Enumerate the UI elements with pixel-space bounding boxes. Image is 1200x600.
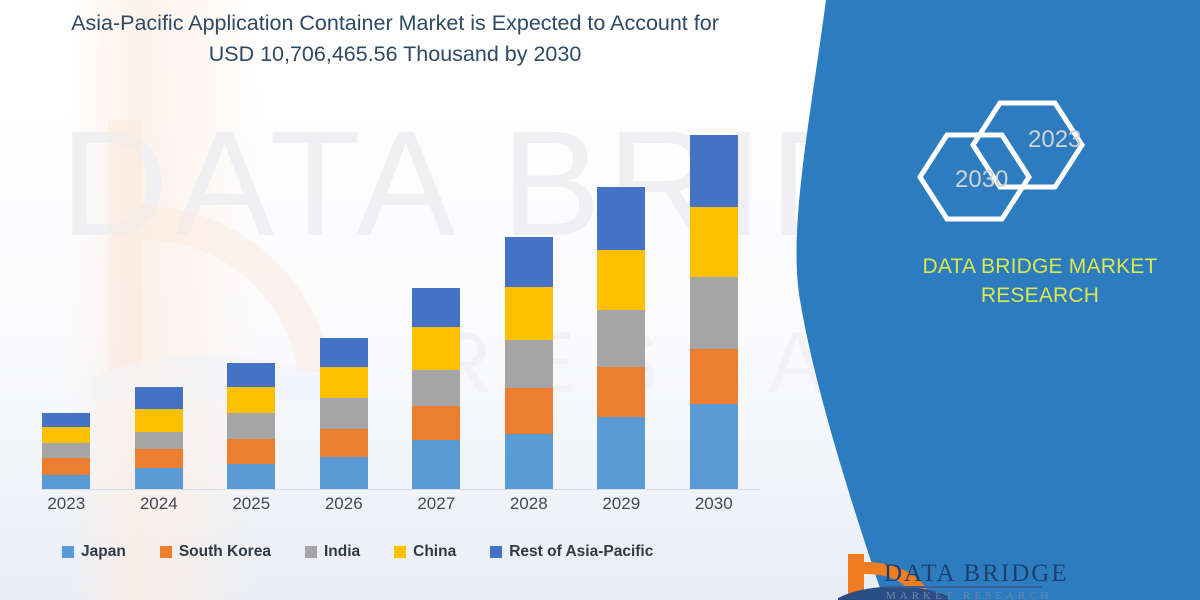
bar-segment-rest-of-asia-pacific <box>505 237 553 287</box>
legend-swatch <box>305 546 317 558</box>
bar-segment-south-korea <box>690 349 738 404</box>
x-axis-label-2029: 2029 <box>576 494 666 514</box>
bar-segment-japan <box>597 417 645 489</box>
x-axis-label-2023: 2023 <box>21 494 111 514</box>
x-axis-label-2025: 2025 <box>206 494 296 514</box>
legend-item-rest-of-asia-pacific[interactable]: Rest of Asia-Pacific <box>490 543 653 561</box>
legend-item-india[interactable]: India <box>305 543 360 561</box>
x-axis-label-2028: 2028 <box>484 494 574 514</box>
hexagon-pair-graphic <box>905 95 1125 225</box>
bar-segment-south-korea <box>227 439 275 464</box>
bar-segment-japan <box>505 434 553 489</box>
bar-segment-japan <box>42 475 90 489</box>
bar-segment-china <box>690 207 738 277</box>
bar-segment-china <box>320 367 368 398</box>
bar-column-2024 <box>114 109 204 489</box>
bar-segment-rest-of-asia-pacific <box>690 135 738 207</box>
bar-segment-rest-of-asia-pacific <box>227 363 275 387</box>
legend-label: Japan <box>81 543 126 561</box>
bar-segment-japan <box>135 468 183 489</box>
bar-segment-south-korea <box>597 367 645 417</box>
legend-label: South Korea <box>179 543 271 561</box>
bar-column-2027 <box>391 109 481 489</box>
bar-segment-rest-of-asia-pacific <box>597 187 645 250</box>
stacked-bar <box>597 187 645 489</box>
bar-segment-india <box>227 413 275 439</box>
stacked-bar <box>505 237 553 489</box>
bar-column-2028 <box>484 109 574 489</box>
bar-segment-china <box>42 427 90 443</box>
brand-panel-heading: Market, By 2030 <box>790 0 1190 3</box>
brand-name: DATA BRIDGE MARKET RESEARCH <box>880 252 1200 310</box>
brand-line-2: RESEARCH <box>981 284 1099 307</box>
hexagon-2030-label: 2030 <box>955 166 1008 194</box>
x-axis-label-2030: 2030 <box>669 494 759 514</box>
bar-segment-rest-of-asia-pacific <box>412 288 460 327</box>
bar-segment-india <box>597 310 645 367</box>
bar-segment-india <box>42 443 90 458</box>
bar-column-2030 <box>669 109 759 489</box>
hexagon-2023-label: 2023 <box>1028 126 1081 154</box>
bar-segment-south-korea <box>505 388 553 434</box>
logo-wordmark: DATA BRIDGE <box>884 560 1069 588</box>
stacked-bars <box>20 109 760 489</box>
bar-segment-japan <box>320 457 368 489</box>
bar-segment-india <box>320 398 368 429</box>
bar-column-2029 <box>576 109 666 489</box>
bar-segment-china <box>412 327 460 370</box>
legend-swatch <box>394 546 406 558</box>
stacked-bar <box>135 387 183 489</box>
legend-item-south-korea[interactable]: South Korea <box>160 543 271 561</box>
bar-segment-india <box>135 432 183 449</box>
logo-rule <box>884 586 1042 588</box>
x-axis-label-2024: 2024 <box>114 494 204 514</box>
bar-column-2023 <box>21 109 111 489</box>
x-axis-labels: 20232024202520262027202820292030 <box>20 494 760 522</box>
bar-segment-south-korea <box>320 429 368 457</box>
bar-segment-rest-of-asia-pacific <box>42 413 90 427</box>
legend-swatch <box>160 546 172 558</box>
bar-segment-japan <box>227 464 275 489</box>
legend-label: Rest of Asia-Pacific <box>509 543 653 561</box>
x-axis-label-2026: 2026 <box>299 494 389 514</box>
stacked-bar <box>412 288 460 489</box>
bar-segment-china <box>597 250 645 310</box>
bar-segment-south-korea <box>412 406 460 440</box>
chart-plot-area <box>20 100 760 490</box>
logo-subtitle: MARKET RESEARCH <box>886 590 1052 600</box>
bar-segment-japan <box>690 404 738 489</box>
legend-swatch <box>62 546 74 558</box>
page-title: Asia-Pacific Application Container Marke… <box>70 8 720 70</box>
legend-label: China <box>413 543 456 561</box>
bar-segment-china <box>505 287 553 340</box>
bar-column-2026 <box>299 109 389 489</box>
bar-segment-china <box>135 409 183 432</box>
bar-segment-rest-of-asia-pacific <box>320 338 368 367</box>
stacked-bar <box>690 135 738 489</box>
bar-segment-south-korea <box>42 458 90 475</box>
stacked-bar <box>320 338 368 489</box>
infographic-canvas: DATA BRIDGE RESEARCH Asia-Pacific Applic… <box>0 0 1200 600</box>
bar-segment-south-korea <box>135 449 183 468</box>
x-axis-line <box>42 489 760 490</box>
bar-column-2025 <box>206 109 296 489</box>
brand-line-1: DATA BRIDGE MARKET <box>922 255 1157 278</box>
legend-item-japan[interactable]: Japan <box>62 543 126 561</box>
bar-segment-china <box>227 387 275 413</box>
bar-segment-rest-of-asia-pacific <box>135 387 183 409</box>
stacked-bar <box>227 363 275 489</box>
bar-segment-india <box>690 277 738 349</box>
legend-label: India <box>324 543 360 561</box>
bar-segment-japan <box>412 440 460 489</box>
bar-segment-india <box>505 340 553 388</box>
bar-segment-india <box>412 370 460 406</box>
stacked-bar <box>42 413 90 489</box>
x-axis-label-2027: 2027 <box>391 494 481 514</box>
chart-panel: DATA BRIDGE RESEARCH Asia-Pacific Applic… <box>0 0 900 600</box>
legend-item-china[interactable]: China <box>394 543 456 561</box>
legend-swatch <box>490 546 502 558</box>
chart-legend: JapanSouth KoreaIndiaChinaRest of Asia-P… <box>62 540 762 564</box>
